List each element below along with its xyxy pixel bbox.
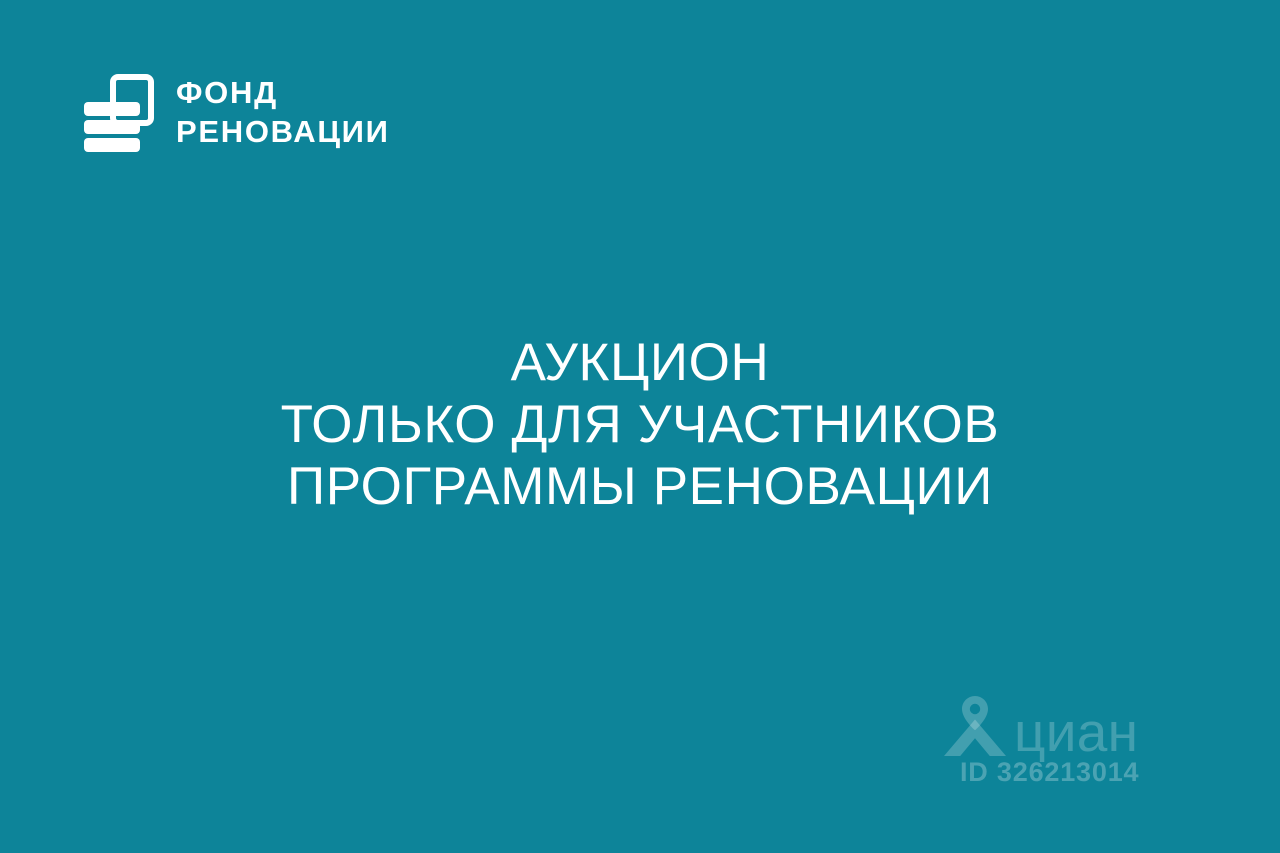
logo-bar-stack-shape [84,102,140,152]
logo-bar-top [84,102,140,116]
headline-line-3: ПРОГРАММЫ РЕНОВАЦИИ [0,456,1280,518]
brand-name-line-1: ФОНД [176,77,390,108]
cian-logo-row: циан [942,695,1138,757]
brand-logo: ФОНД РЕНОВАЦИИ [84,72,390,152]
cian-watermark: циан ID 326213014 [942,695,1172,795]
listing-image-canvas: ФОНД РЕНОВАЦИИ АУКЦИОН ТОЛЬКО ДЛЯ УЧАСТН… [0,0,1280,853]
cian-brand-text: циан [1014,707,1138,757]
headline-line-1: АУКЦИОН [0,332,1280,394]
brand-wordmark: ФОНД РЕНОВАЦИИ [176,77,390,147]
headline-block: АУКЦИОН ТОЛЬКО ДЛЯ УЧАСТНИКОВ ПРОГРАММЫ … [0,332,1280,518]
logo-bar-middle [84,120,140,134]
logo-bar-bottom [84,138,140,152]
cian-listing-id: ID 326213014 [960,757,1139,788]
fond-renovatsii-logo-icon [84,72,158,152]
cian-pin-logo-icon [942,695,1008,757]
brand-name-line-2: РЕНОВАЦИИ [176,116,390,147]
headline-line-2: ТОЛЬКО ДЛЯ УЧАСТНИКОВ [0,394,1280,456]
